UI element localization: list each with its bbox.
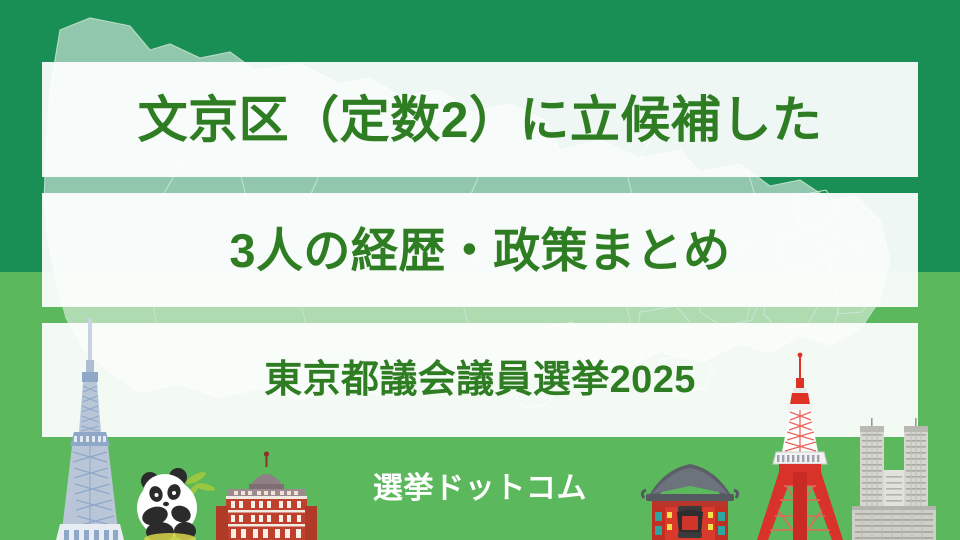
headline-band-2: 3人の経歴・政策まとめ [42, 193, 918, 307]
site-logo: 選挙ドットコム [0, 474, 960, 504]
headline-band-3: 東京都議会議員選挙2025 [42, 323, 918, 437]
headline-band-1: 文京区（定数2）に立候補した [42, 62, 918, 177]
headline-line-1: 文京区（定数2）に立候補した [138, 95, 823, 145]
headline-line-2: 3人の経歴・政策まとめ [229, 227, 730, 274]
headline-line-3: 東京都議会議員選挙2025 [264, 361, 695, 399]
poster-canvas: 文京区（定数2）に立候補した 3人の経歴・政策まとめ 東京都議会議員選挙2025… [0, 0, 960, 540]
site-logo-text: 選挙ドットコム [373, 474, 587, 504]
